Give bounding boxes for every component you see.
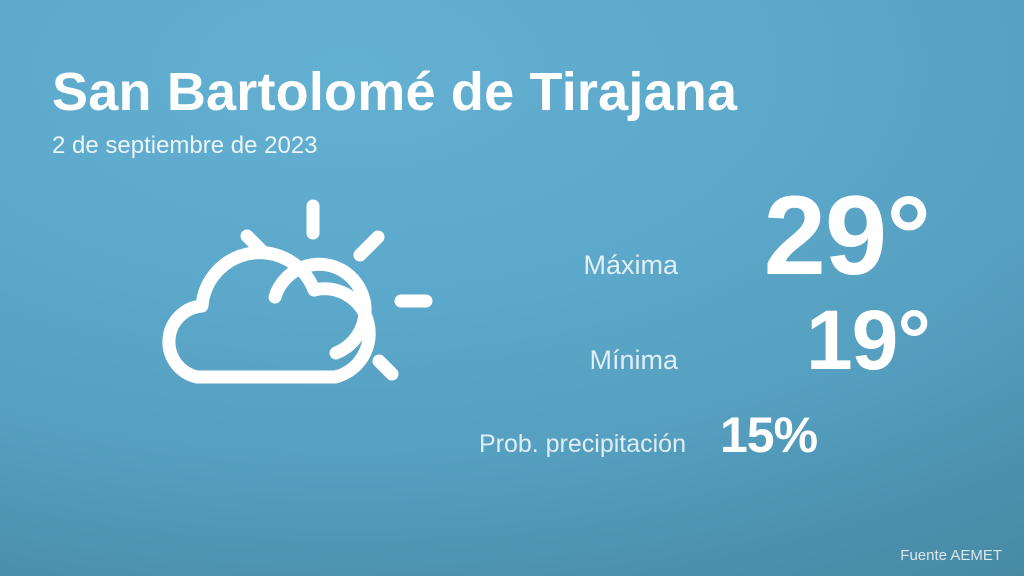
maxima-label: Máxima xyxy=(583,250,678,281)
reading-row-minima: Mínima 19° xyxy=(400,298,930,410)
reading-row-maxima: Máxima 29° xyxy=(400,180,930,298)
source-attribution: Fuente AEMET xyxy=(900,547,1002,564)
minima-label: Mínima xyxy=(589,345,678,376)
page-title: San Bartolomé de Tirajana xyxy=(52,62,737,122)
readings-list: Máxima 29° Mínima 19° Prob. precipitació… xyxy=(400,180,930,490)
sun-ray-lower-right xyxy=(379,361,392,374)
forecast-date: 2 de septiembre de 2023 xyxy=(52,122,737,160)
reading-row-precipitation: Prob. precipitación 15% xyxy=(400,410,930,490)
sun-ray-upper-right xyxy=(360,237,378,255)
maxima-value: 29° xyxy=(720,180,930,292)
sun-disc-icon xyxy=(275,264,365,353)
minima-value: 19° xyxy=(720,298,930,382)
precipitation-label: Prob. precipitación xyxy=(479,430,686,459)
weather-forecast-card: San Bartolomé de Tirajana 2 de septiembr… xyxy=(0,0,1024,576)
header: San Bartolomé de Tirajana 2 de septiembr… xyxy=(52,62,737,160)
precipitation-value: 15% xyxy=(720,410,930,460)
